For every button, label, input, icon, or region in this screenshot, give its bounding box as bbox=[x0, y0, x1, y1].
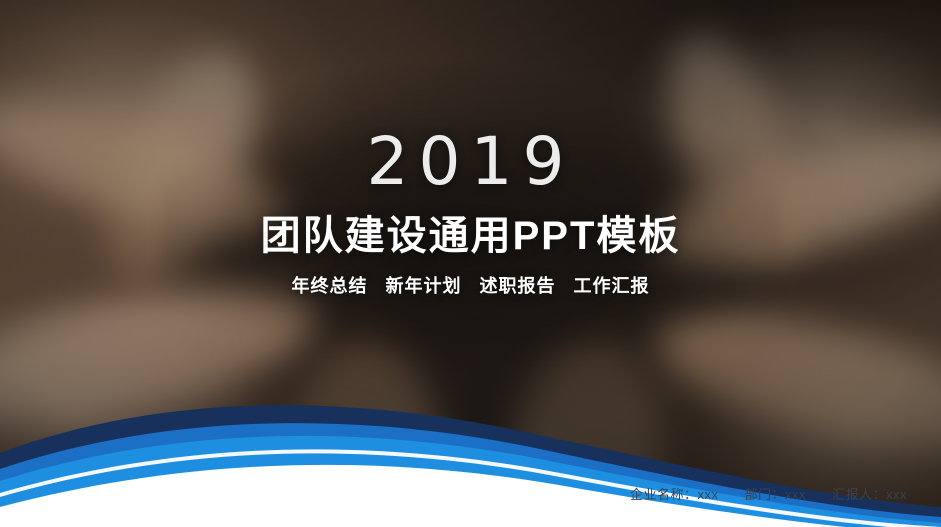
footer-company-value: xxx bbox=[697, 487, 718, 502]
footer-department-value: xxx bbox=[785, 487, 806, 502]
subtitle-item-2: 新年计划 bbox=[385, 276, 461, 296]
footer-meta: 企业名称：xxx 部门：xxx 汇报人：xxx bbox=[630, 484, 907, 503]
subtitle-item-3: 述职报告 bbox=[480, 276, 556, 296]
footer-reporter-value: xxx bbox=[886, 487, 907, 502]
footer-department: 部门：xxx bbox=[744, 484, 806, 503]
footer-reporter-label: 汇报人： bbox=[832, 487, 886, 502]
year-label: 2019 bbox=[0, 126, 941, 198]
presentation-slide: 2019 团队建设通用PPT模板 年终总结 新年计划 述职报告 工作汇报 企业名… bbox=[0, 0, 941, 527]
footer-company: 企业名称：xxx bbox=[630, 484, 719, 503]
slide-title: 团队建设通用PPT模板 bbox=[0, 212, 941, 260]
footer-department-label: 部门： bbox=[744, 487, 785, 502]
subtitle-item-1: 年终总结 bbox=[291, 276, 367, 296]
footer-company-label: 企业名称： bbox=[630, 487, 698, 502]
headline-block: 2019 团队建设通用PPT模板 年终总结 新年计划 述职报告 工作汇报 bbox=[0, 126, 941, 298]
slide-subtitle: 年终总结 新年计划 述职报告 工作汇报 bbox=[0, 274, 941, 298]
footer-reporter: 汇报人：xxx bbox=[832, 484, 907, 503]
subtitle-item-4: 工作汇报 bbox=[574, 276, 650, 296]
